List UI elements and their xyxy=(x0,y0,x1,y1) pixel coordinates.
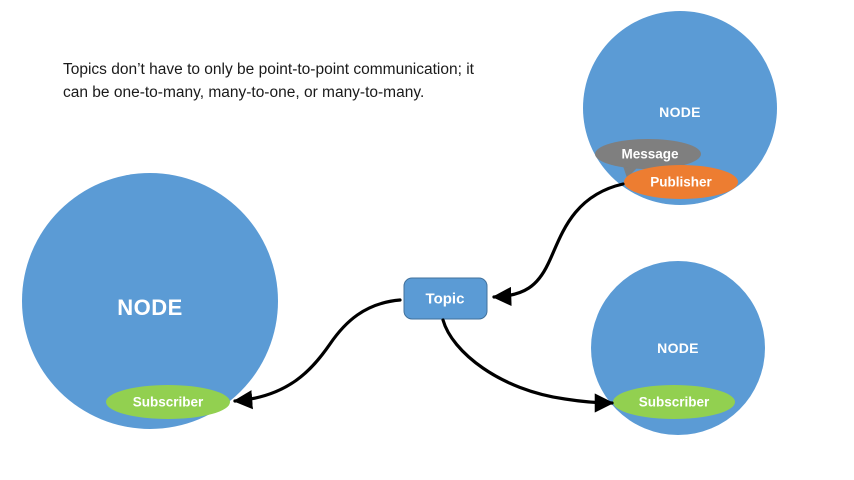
node-top-right[interactable] xyxy=(583,11,777,205)
subscriber-ellipse[interactable] xyxy=(613,385,735,419)
topic-rect xyxy=(404,278,487,319)
arrow-topic-to-subscriber-bottom-right xyxy=(443,320,612,403)
subscriber-ellipse[interactable] xyxy=(106,385,230,419)
publisher-ellipse[interactable] xyxy=(624,165,738,199)
node-left[interactable] xyxy=(22,173,278,429)
topic-box[interactable] xyxy=(404,278,487,319)
slide-canvas: Topics don’t have to only be point-to-po… xyxy=(0,0,854,480)
node-bottom-right[interactable] xyxy=(591,261,765,435)
arrow-publisher-to-topic xyxy=(494,184,623,297)
caption-text: Topics don’t have to only be point-to-po… xyxy=(63,58,483,104)
message-ellipse[interactable] xyxy=(595,139,701,169)
